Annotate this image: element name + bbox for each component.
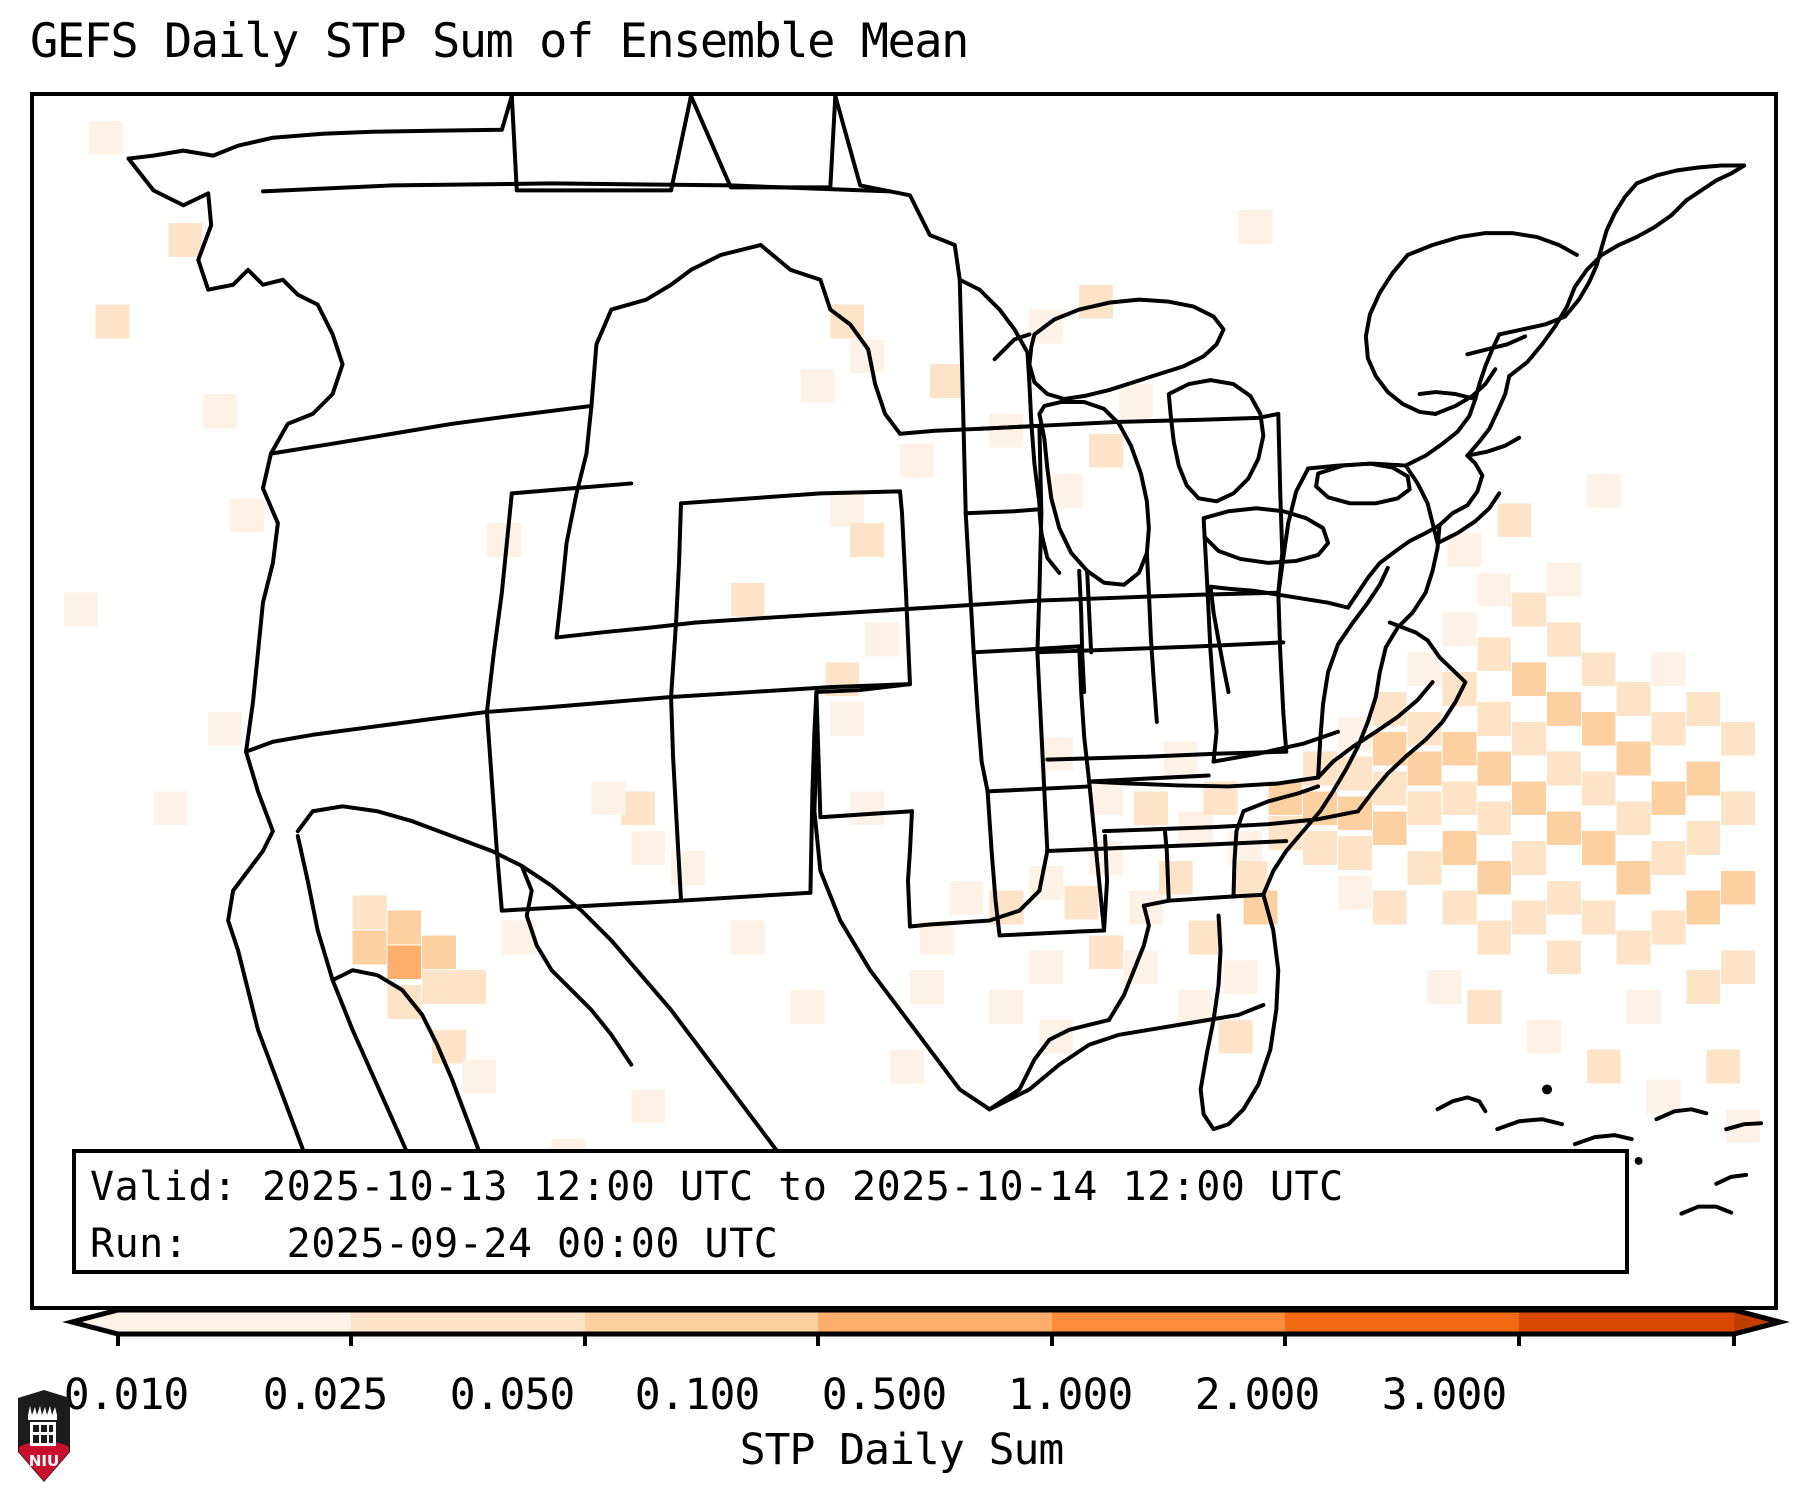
colorbar-tick-5: 1.000 xyxy=(1008,1370,1132,1420)
colorbar xyxy=(0,1300,1803,1346)
colorbar-tick-6: 2.000 xyxy=(1195,1370,1319,1420)
colorbar-axis-label: STP Daily Sum xyxy=(0,1425,1803,1475)
colorbar-tick-7: 3.000 xyxy=(1382,1370,1506,1420)
colorbar-tick-2: 0.050 xyxy=(450,1370,574,1420)
map-panel: Valid: 2025-10-13 12:00 UTC to 2025-10-1… xyxy=(30,92,1778,1310)
map-svg xyxy=(34,96,1774,1306)
niu-logo-text: NIU xyxy=(29,1452,59,1470)
colorbar-svg xyxy=(0,1300,1803,1346)
colorbar-tick-3: 0.100 xyxy=(635,1370,759,1420)
niu-logo: NIU xyxy=(14,1390,74,1482)
valid-line: Valid: 2025-10-13 12:00 UTC to 2025-10-1… xyxy=(90,1159,1611,1216)
colorbar-tick-1: 0.025 xyxy=(263,1370,387,1420)
figure-root: GEFS Daily STP Sum of Ensemble Mean xyxy=(0,0,1803,1500)
colorbar-tick-labels: 0.010 0.025 0.050 0.100 0.500 1.000 2.00… xyxy=(0,1370,1803,1422)
page-title: GEFS Daily STP Sum of Ensemble Mean xyxy=(30,14,968,69)
valid-run-infobox: Valid: 2025-10-13 12:00 UTC to 2025-10-1… xyxy=(72,1149,1629,1274)
colorbar-tick-4: 0.500 xyxy=(822,1370,946,1420)
data-cells-layer xyxy=(64,121,1760,1203)
colorbar-tick-0: 0.010 xyxy=(64,1370,188,1420)
run-line: Run: 2025-09-24 00:00 UTC xyxy=(90,1216,1611,1273)
colorbar-segments xyxy=(72,1310,1780,1334)
